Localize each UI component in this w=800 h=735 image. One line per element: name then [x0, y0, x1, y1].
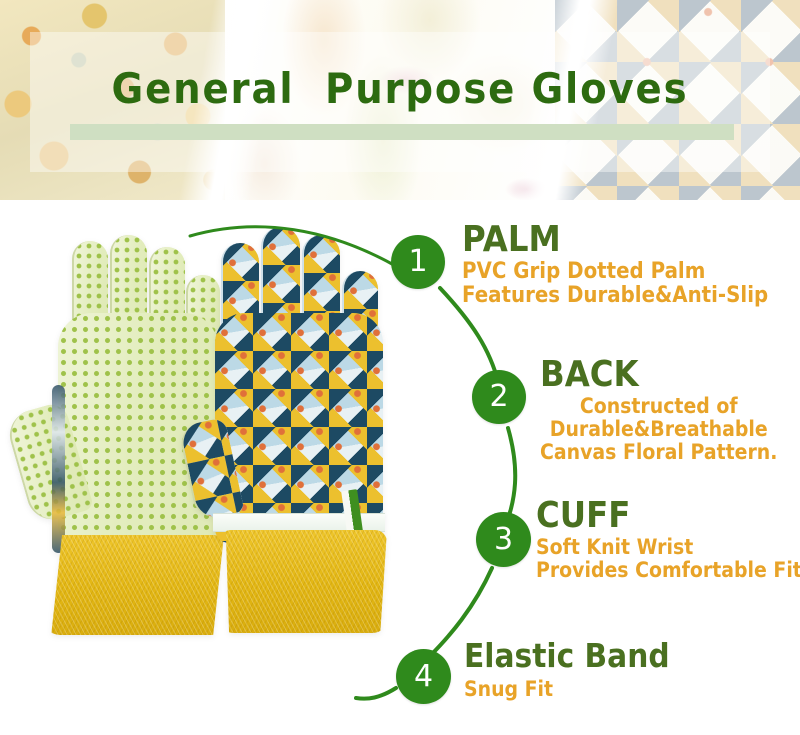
callout-4-title: Elastic Band [464, 639, 670, 672]
callout-3-line-2: Provides Comfortable Fit [536, 559, 800, 582]
page-title: General Purpose Gloves [32, 64, 768, 113]
callout-2-line-2: Durable&Breathable [540, 418, 777, 441]
callout-4-line-1: Snug Fit [464, 678, 670, 701]
callout-2-line-1: Constructed of [540, 395, 777, 418]
callout-2-description: Constructed of Durable&Breathable Canvas… [540, 395, 777, 464]
callout-1-title: PALM [462, 222, 768, 258]
callout-marker-3[interactable]: 3 [476, 512, 531, 567]
callout-2-title: BACK [540, 357, 777, 393]
infographic-page: General Purpose Gloves [0, 0, 800, 735]
header-banner: General Purpose Gloves [0, 0, 800, 200]
callout-marker-2[interactable]: 2 [472, 370, 526, 424]
callout-1-line-1: PVC Grip Dotted Palm [462, 260, 768, 284]
callout-4: Elastic Band Snug Fit [464, 639, 692, 701]
callout-marker-1[interactable]: 1 [391, 235, 445, 289]
callout-4-description: Snug Fit [464, 678, 670, 701]
callout-1-line-2: Features Durable&Anti-Slip [462, 284, 768, 308]
callout-1-description: PVC Grip Dotted Palm Features Durable&An… [462, 260, 768, 308]
callout-2-line-3: Canvas Floral Pattern. [540, 441, 777, 464]
callout-3-description: Soft Knit Wrist Provides Comfortable Fit [536, 536, 800, 582]
callout-marker-4[interactable]: 4 [396, 649, 451, 704]
back-side-glove [185, 225, 410, 635]
callout-2: BACK Constructed of Durable&Breathable C… [540, 357, 800, 464]
callout-3: CUFF Soft Knit Wrist Provides Comfortabl… [536, 498, 800, 582]
product-photo [10, 225, 410, 645]
glove-knit-cuff [219, 530, 387, 633]
callout-3-title: CUFF [536, 498, 800, 534]
glove-side-seam [52, 385, 65, 553]
callout-3-line-1: Soft Knit Wrist [536, 536, 800, 559]
title-underline-band [70, 124, 734, 140]
callout-1: PALM PVC Grip Dotted Palm Features Durab… [462, 222, 800, 308]
